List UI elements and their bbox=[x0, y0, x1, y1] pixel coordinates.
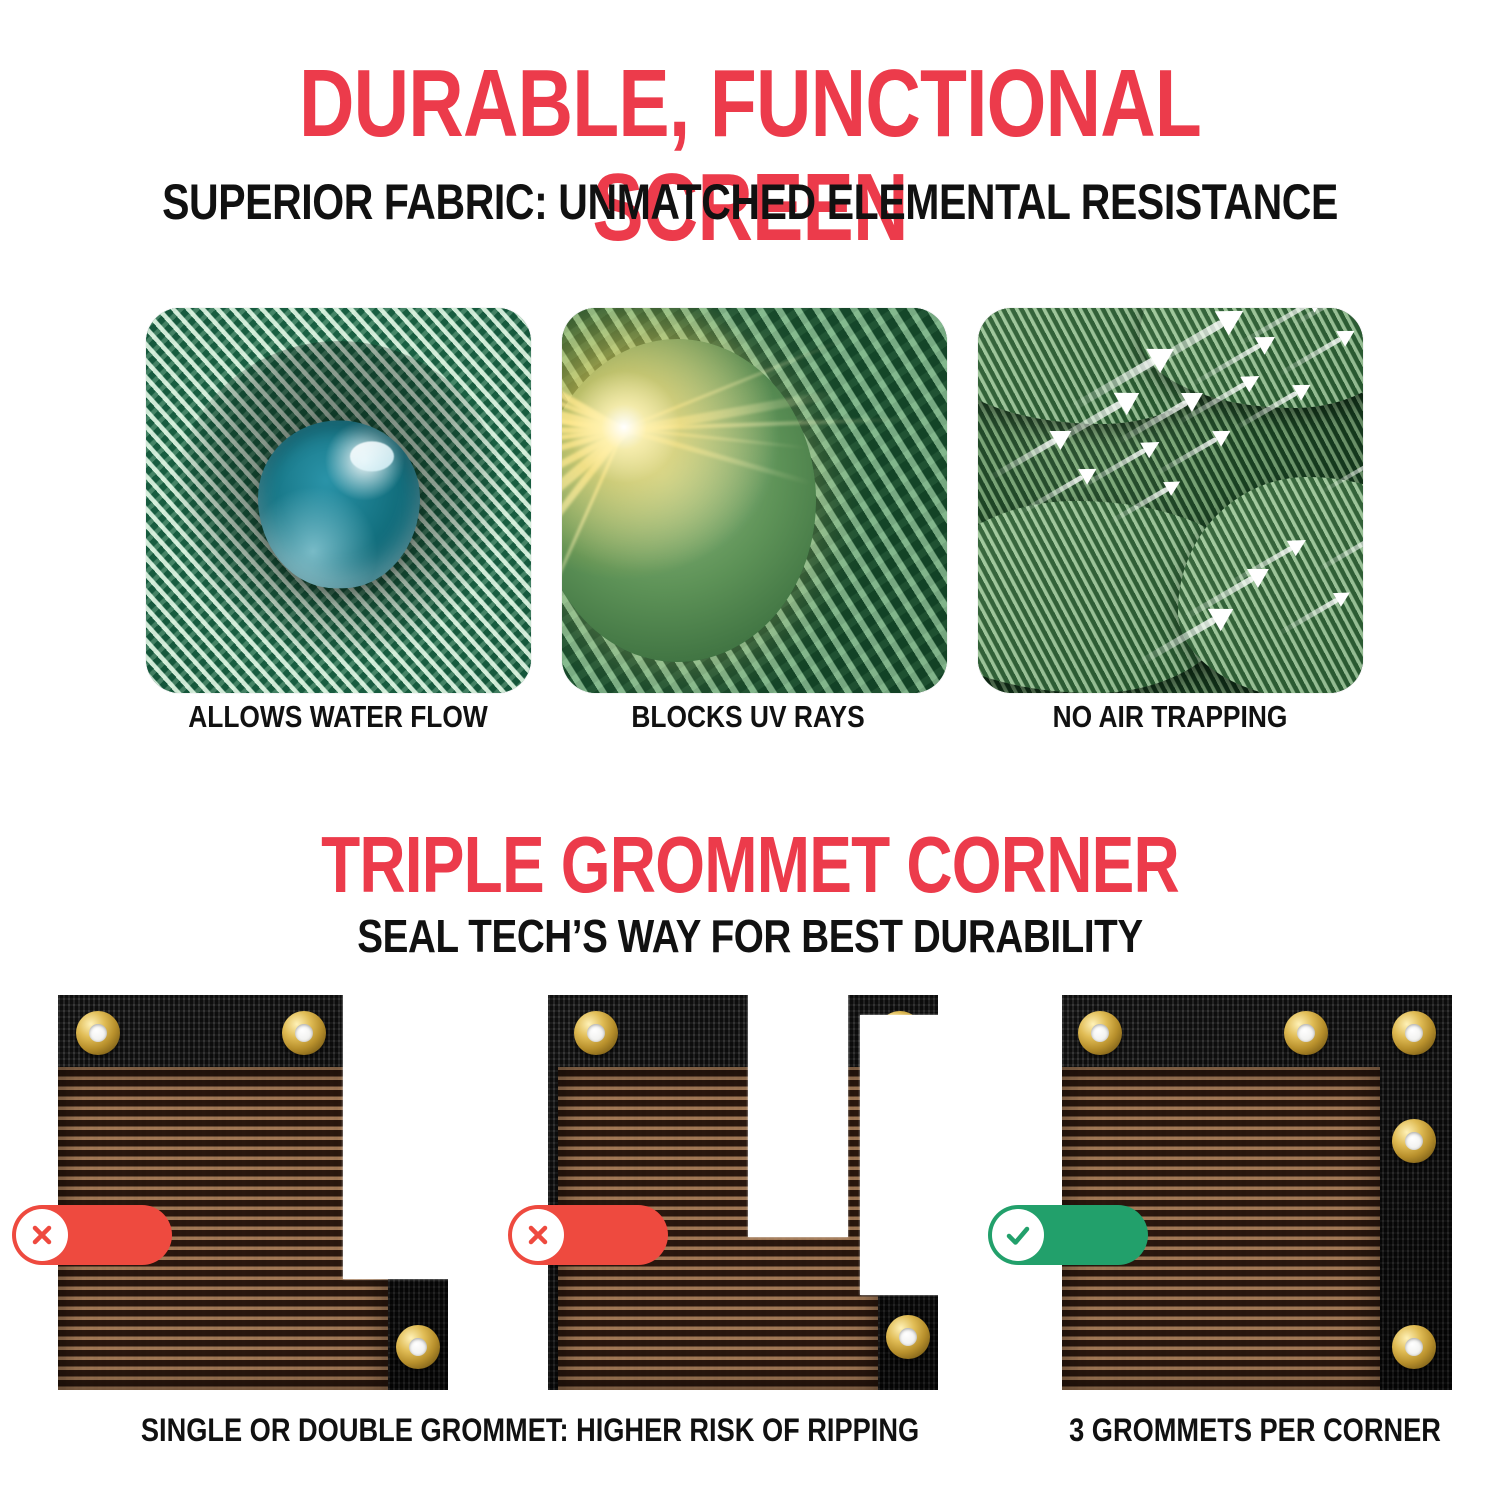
feature-caption-air: NO AIR TRAPPING bbox=[1000, 700, 1340, 734]
grommet-icon bbox=[1284, 1011, 1328, 1055]
badge-knob bbox=[992, 1209, 1044, 1261]
check-icon bbox=[1002, 1219, 1034, 1251]
grommet-icon bbox=[396, 1325, 440, 1369]
grommet-icon bbox=[574, 1011, 618, 1055]
feature-card-water bbox=[146, 308, 531, 693]
tear-rip-icon bbox=[343, 995, 448, 1279]
top-subhead: SUPERIOR FABRIC: UNMATCHED ELEMENTAL RES… bbox=[135, 174, 1365, 230]
feature-caption-uv: BLOCKS UV RAYS bbox=[578, 700, 918, 734]
status-badge-good-triple[interactable] bbox=[988, 1205, 1148, 1265]
infographic-page: DURABLE, FUNCTIONAL SCREEN SUPERIOR FABR… bbox=[0, 0, 1500, 1500]
grommet-icon bbox=[1392, 1011, 1436, 1055]
feature-caption-water: ALLOWS WATER FLOW bbox=[168, 700, 508, 734]
panel-caption-good: 3 GROMMETS PER CORNER bbox=[1055, 1412, 1455, 1448]
grommet-icon bbox=[282, 1011, 326, 1055]
close-icon bbox=[27, 1220, 57, 1250]
grommet-icon bbox=[886, 1315, 930, 1359]
tear-rip-icon bbox=[860, 1015, 938, 1295]
grommet-icon bbox=[1392, 1119, 1436, 1163]
grommet-icon bbox=[1392, 1325, 1436, 1369]
water-droplet-icon bbox=[258, 420, 420, 588]
panel-caption-bad: SINGLE OR DOUBLE GROMMET: HIGHER RISK OF… bbox=[131, 1412, 930, 1448]
feature-card-uv bbox=[562, 308, 947, 693]
grommet-panel-single bbox=[58, 995, 448, 1390]
feature-card-row bbox=[0, 308, 1500, 698]
status-badge-bad-single[interactable] bbox=[12, 1205, 172, 1265]
badge-knob bbox=[512, 1209, 564, 1261]
bottom-headline: TRIPLE GROMMET CORNER bbox=[150, 820, 1350, 910]
bottom-subhead: SEAL TECH’S WAY FOR BEST DURABILITY bbox=[120, 910, 1380, 962]
tear-rip-icon bbox=[748, 995, 848, 1237]
status-badge-bad-double[interactable] bbox=[508, 1205, 668, 1265]
close-icon bbox=[523, 1220, 553, 1250]
grommet-panel-triple bbox=[1062, 995, 1452, 1390]
grommet-panel-row bbox=[0, 995, 1500, 1395]
grommet-panel-double bbox=[548, 995, 938, 1390]
feature-card-air bbox=[978, 308, 1363, 693]
grommet-icon bbox=[1078, 1011, 1122, 1055]
grommet-icon bbox=[76, 1011, 120, 1055]
badge-knob bbox=[16, 1209, 68, 1261]
